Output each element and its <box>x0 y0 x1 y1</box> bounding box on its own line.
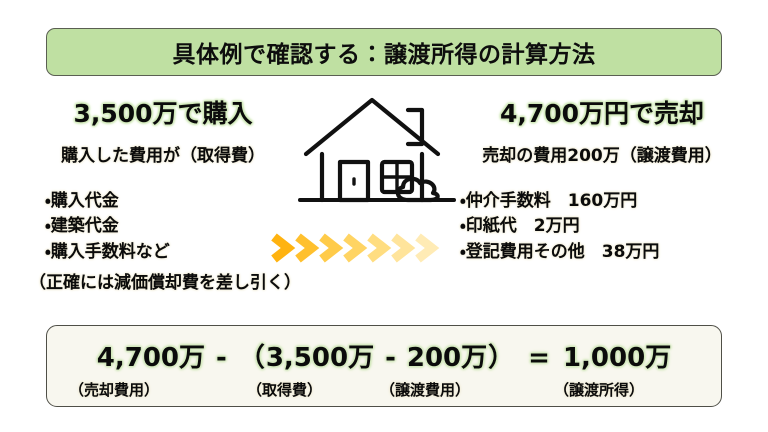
formula-token-paren-open: （ <box>239 337 265 374</box>
infographic-page: 具体例で確認する：譲渡所得の計算方法 3,500万で購入 購入した費用が（取得費… <box>0 0 768 432</box>
chevron-arrows-svg <box>268 228 448 268</box>
formula-token-result: 1,000万 <box>563 337 671 374</box>
purchase-amount-heading: 3,500万で購入 <box>18 100 308 128</box>
purchase-cost-list: ・購入代金 ・建築代金 ・購入手数料など <box>18 189 308 266</box>
purchase-subtitle: 購入した費用が（取得費） <box>18 141 308 166</box>
formula-box: 4,700万 - （ 3,500万 - 200万 ） = 1,000万 （売却費… <box>46 325 722 407</box>
formula-token-equals: = <box>528 343 550 373</box>
formula-label-transfer-cost: （譲渡費用） <box>380 379 470 400</box>
formula-label-acquisition: （取得費） <box>247 379 322 400</box>
formula-token-paren-close: ） <box>488 337 514 374</box>
formula-token-transfer-cost: 200万 <box>407 337 487 374</box>
list-item: ・仲介手数料 160万円 <box>460 189 756 215</box>
purchase-column: 3,500万で購入 購入した費用が（取得費） ・購入代金 ・建築代金 ・購入手数… <box>18 100 308 293</box>
list-item: ・登記費用その他 38万円 <box>460 240 756 266</box>
formula-expression: 4,700万 - （ 3,500万 - 200万 ） = 1,000万 <box>47 337 721 374</box>
formula-token-acquisition: 3,500万 <box>266 337 374 374</box>
chevron-right-arrows-icon <box>268 228 448 268</box>
sale-amount-heading: 4,700万円で売却 <box>448 100 756 128</box>
sale-column: 4,700万円で売却 売却の費用200万（譲渡費用） ・仲介手数料 160万円 … <box>448 100 756 266</box>
formula-labels: （売却費用） （取得費） （譲渡費用） （譲渡所得） <box>61 379 707 400</box>
list-item: ・印紙代 2万円 <box>460 214 756 240</box>
list-item: ・購入代金 <box>45 189 308 215</box>
page-title: 具体例で確認する：譲渡所得の計算方法 <box>173 35 596 69</box>
purchase-depreciation-note: （正確には減価償却費を差し引く） <box>18 268 308 293</box>
formula-token-minus-2: - <box>385 343 396 373</box>
formula-token-sale-price: 4,700万 <box>97 337 205 374</box>
formula-label-capital-gain: （譲渡所得） <box>554 379 644 400</box>
title-banner: 具体例で確認する：譲渡所得の計算方法 <box>46 28 722 76</box>
formula-token-minus-1: - <box>216 343 227 373</box>
sale-cost-list: ・仲介手数料 160万円 ・印紙代 2万円 ・登記費用その他 38万円 <box>448 189 756 266</box>
sale-subtitle: 売却の費用200万（譲渡費用） <box>448 141 756 166</box>
formula-label-sale-cost: （売却費用） <box>69 379 159 400</box>
